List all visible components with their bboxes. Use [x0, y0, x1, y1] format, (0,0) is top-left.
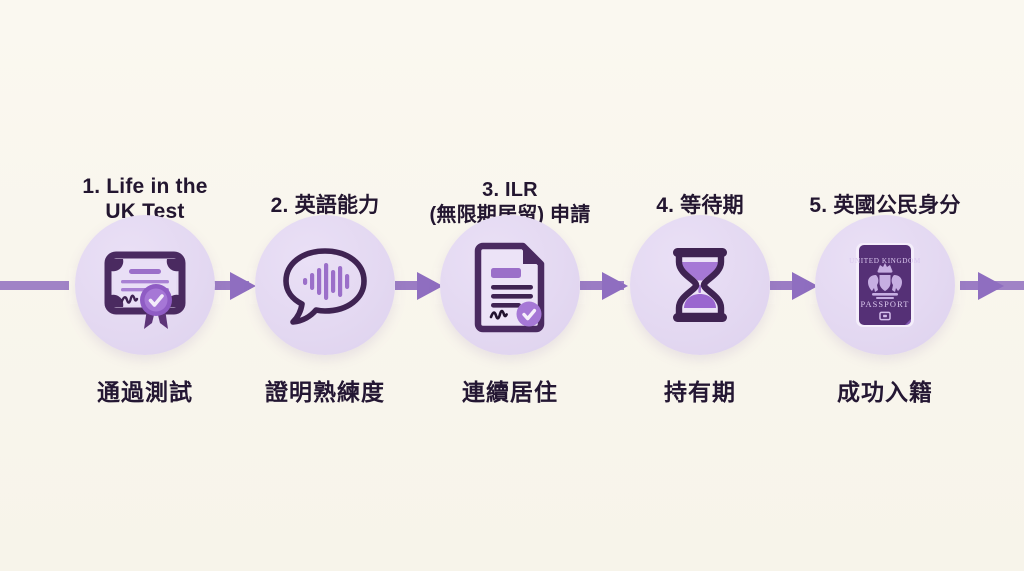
- uk-passport-icon: UNITED KINGDOM: [837, 237, 933, 333]
- step-1: 1. Life in the UK Test: [45, 125, 245, 415]
- signed-document-check-icon: [462, 237, 558, 333]
- step-3-icon-circle: [440, 215, 580, 355]
- step-5-icon-circle: UNITED KINGDOM: [815, 215, 955, 355]
- step-3-caption: 連續居住: [410, 373, 610, 407]
- step-4-icon-circle: [630, 215, 770, 355]
- step-2: 2. 英語能力 證明熟練度: [225, 125, 425, 415]
- hourglass-icon: [652, 237, 748, 333]
- step-5: UNITED KINGDOM: [785, 125, 985, 415]
- certificate-seal-icon: [97, 237, 193, 333]
- step-2-caption: 證明熟練度: [225, 373, 425, 407]
- step-2-icon-circle: [255, 215, 395, 355]
- step-4-caption: 持有期: [600, 373, 800, 407]
- passport-label-text: PASSPORT: [861, 300, 910, 309]
- step-1-icon-circle: [75, 215, 215, 355]
- process-flow-diagram: 1. Life in the UK Test: [0, 0, 1024, 571]
- step-5-caption: 成功入籍: [785, 373, 985, 407]
- step-1-caption: 通過測試: [45, 373, 245, 407]
- step-3: 3. ILR (無限期居留) 申請: [410, 125, 610, 415]
- speech-bubble-waveform-icon: [277, 237, 373, 333]
- step-4: 4. 等待期: [600, 125, 800, 415]
- step-5-title: 5. 英國公民身分: [785, 193, 985, 219]
